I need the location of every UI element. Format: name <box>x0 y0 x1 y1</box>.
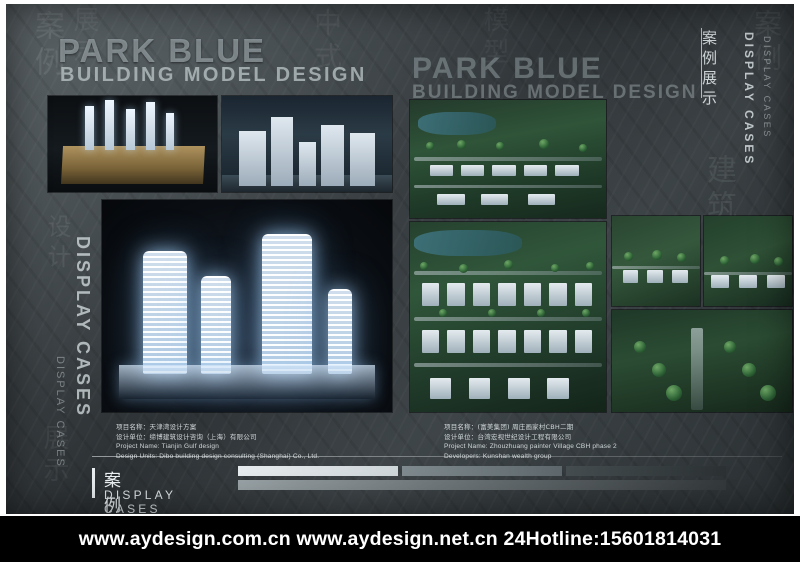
model-building <box>461 165 485 176</box>
model-building <box>549 283 567 306</box>
model-tower-lit <box>328 289 352 374</box>
model-tree <box>539 139 549 149</box>
photo-tile-villa-masterplan <box>410 222 606 412</box>
vertical-title-cn: 案例展示 <box>699 30 720 110</box>
model-tree <box>652 250 662 260</box>
photo-tile-detail-left <box>612 216 700 306</box>
model-building <box>549 330 567 353</box>
model-road <box>414 271 602 275</box>
brand-title-en: DISPLAY CASES <box>104 488 176 514</box>
vertical-title-en-small: DISPLAY CASES <box>762 36 772 139</box>
caption-project-en: Project Name: Tianjin Gulf design <box>116 442 319 452</box>
model-tree <box>551 264 559 272</box>
model-building <box>739 275 757 288</box>
caption-design-unit-cn: 设计单位：缔博建筑设计咨询（上海）有限公司 <box>116 432 319 442</box>
model-tower-lit <box>143 251 187 374</box>
model-building <box>492 165 516 176</box>
model-building <box>575 283 593 306</box>
model-tree <box>426 142 434 150</box>
model-tree <box>579 144 587 152</box>
model-tree <box>720 256 729 265</box>
caption-project-en: Project Name: Zhouzhuang painter Village… <box>444 442 617 452</box>
model-building <box>481 194 508 205</box>
footer-bar: www.aydesign.com.cn www.aydesign.net.cn … <box>0 516 800 562</box>
model-building <box>498 330 516 353</box>
model-tree <box>666 385 682 401</box>
headline-title-echo: PARK BLUE <box>412 52 603 86</box>
model-building <box>447 330 465 353</box>
model-building <box>555 165 579 176</box>
model-tower-lit <box>262 234 312 374</box>
model-tree <box>459 264 468 273</box>
vertical-title-en-left: DISPLAY CASES <box>72 236 93 418</box>
model-building <box>430 165 454 176</box>
model-building <box>524 330 542 353</box>
model-building <box>647 270 663 283</box>
brand-accent-bar <box>92 468 95 498</box>
color-swatch-gradient <box>238 480 726 490</box>
model-building <box>473 283 491 306</box>
model-tree <box>634 341 646 353</box>
model-base <box>61 146 205 184</box>
headline-subtitle: BUILDING MODEL DESIGN <box>60 64 367 87</box>
model-tower <box>85 106 94 150</box>
footer-contact-text: www.aydesign.com.cn www.aydesign.net.cn … <box>79 528 722 551</box>
model-building <box>508 378 530 399</box>
caption-project-cn: 项目名称：天津湾设计方案 <box>116 422 319 432</box>
model-building <box>623 270 639 283</box>
model-building <box>350 133 376 186</box>
divider-rule <box>92 456 782 457</box>
model-road <box>414 363 602 367</box>
model-water <box>418 112 496 136</box>
caption-project-cn: 项目名称：(富美集团) 周庄画家村CBH二期 <box>444 422 617 432</box>
color-swatch-dark <box>566 466 726 476</box>
model-road <box>414 185 602 188</box>
poster-inner: 案例 展示 中式 模型 建筑 设计 案例 展示 PARK BLUE BUILDI… <box>6 4 794 514</box>
model-road <box>704 272 792 275</box>
model-building <box>575 330 593 353</box>
model-road <box>612 266 700 269</box>
model-tree <box>774 257 783 266</box>
color-swatch-light <box>238 466 398 476</box>
model-building <box>473 330 491 353</box>
model-tower-lit <box>201 276 231 374</box>
photo-tile-daylight-towers <box>222 96 392 192</box>
photo-tile-street-view <box>612 310 792 412</box>
model-building <box>422 283 440 306</box>
model-road <box>414 317 602 321</box>
model-building <box>422 330 440 353</box>
model-building <box>437 194 464 205</box>
model-tower <box>146 102 155 150</box>
model-tower <box>166 113 174 149</box>
photo-tile-night-model <box>48 96 217 192</box>
model-building <box>271 117 293 186</box>
poster-artwork: 案例 展示 中式 模型 建筑 设计 案例 展示 PARK BLUE BUILDI… <box>6 4 794 514</box>
model-building <box>447 283 465 306</box>
model-tree <box>457 140 466 149</box>
photo-tile-illuminated-towers <box>102 200 392 412</box>
model-road <box>691 328 703 410</box>
model-tree <box>760 385 776 401</box>
model-tree <box>504 260 513 269</box>
model-tower <box>126 109 135 150</box>
calligraphy-glyph: 设计 <box>40 214 75 274</box>
vertical-title-en-left-small: DISPLAY CASES <box>54 356 66 468</box>
vertical-title-en: DISPLAY CASES <box>742 32 756 166</box>
model-tree <box>742 363 756 377</box>
model-building <box>299 142 316 186</box>
model-tree <box>496 142 504 150</box>
model-tree <box>420 262 428 270</box>
model-building <box>239 131 266 187</box>
model-tree <box>750 254 760 264</box>
model-building <box>711 275 729 288</box>
model-water <box>414 230 522 257</box>
photo-tile-detail-right <box>704 216 792 306</box>
caption-design-unit-en: Design Units: Dibo building design consu… <box>116 452 319 462</box>
color-swatch-mid <box>402 466 562 476</box>
model-tree <box>724 341 736 353</box>
poster-page: 案例 展示 中式 模型 建筑 设计 案例 展示 PARK BLUE BUILDI… <box>0 0 800 562</box>
model-building <box>524 283 542 306</box>
model-podium <box>119 365 374 399</box>
model-building <box>430 378 452 399</box>
model-building <box>321 125 345 186</box>
model-tree <box>624 252 633 261</box>
model-tree <box>677 253 686 262</box>
model-road <box>414 157 602 161</box>
model-tower <box>105 100 114 150</box>
model-building <box>469 378 491 399</box>
model-building <box>547 378 569 399</box>
photo-tile-masterplan-upper <box>410 100 606 218</box>
model-building <box>498 283 516 306</box>
model-tree <box>586 262 594 270</box>
model-building <box>528 194 555 205</box>
model-building <box>767 275 785 288</box>
caption-design-unit-en: Developers: Kunshan wealth group <box>444 452 617 462</box>
model-building <box>672 270 688 283</box>
caption-design-unit-cn: 设计单位：台湾宏视世纪设计工程有限公司 <box>444 432 617 442</box>
model-building <box>524 165 548 176</box>
model-tree <box>652 363 666 377</box>
